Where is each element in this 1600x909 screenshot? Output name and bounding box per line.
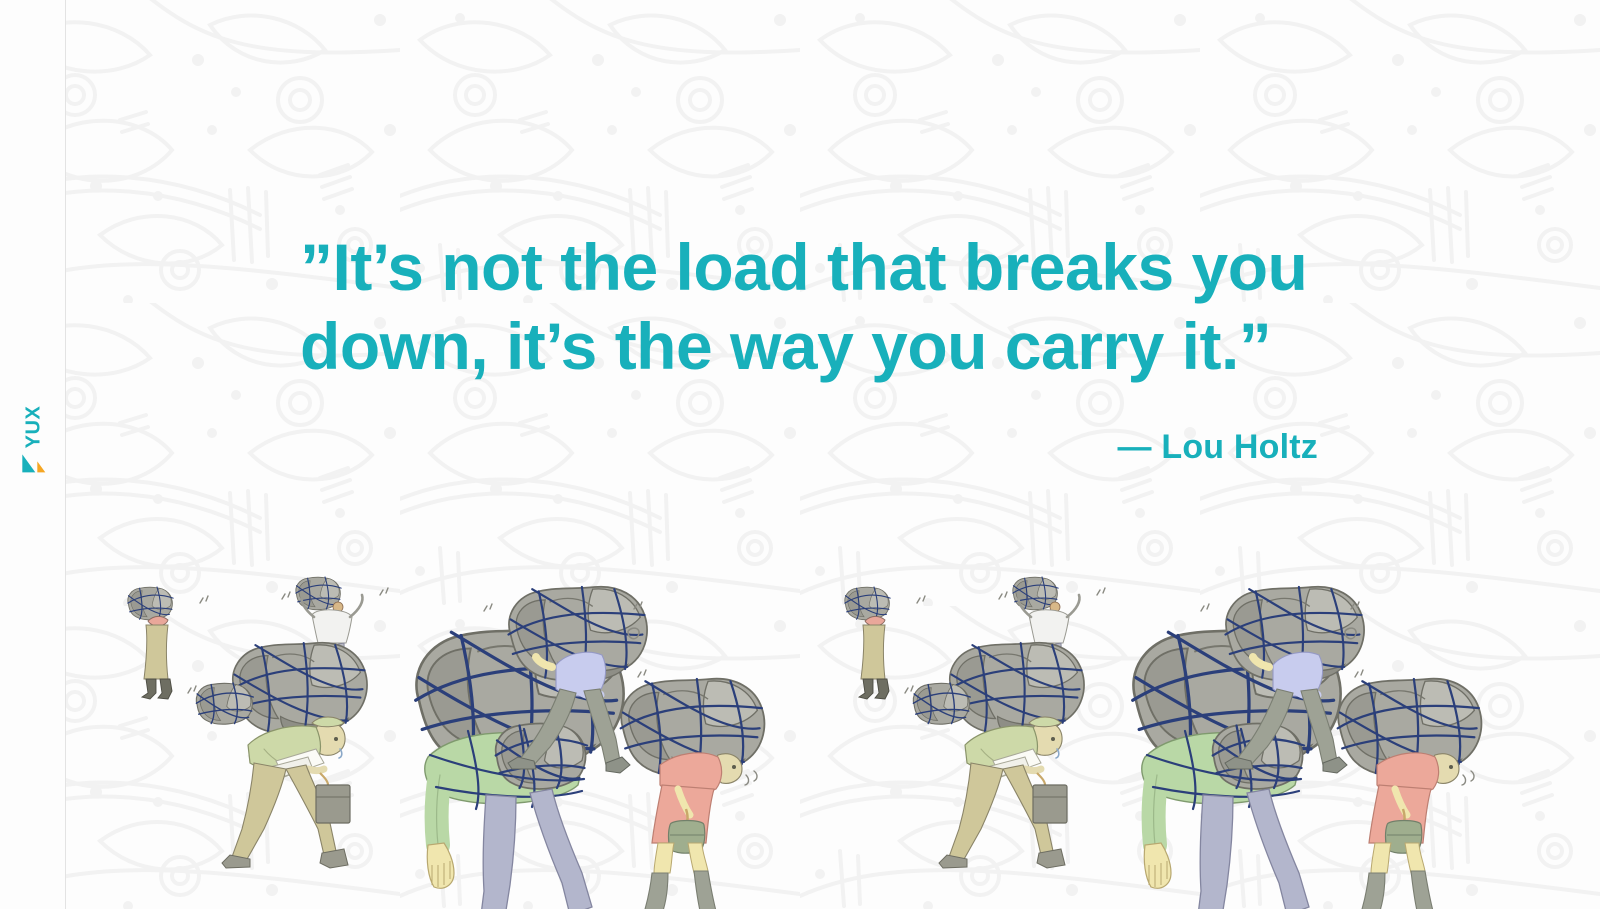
yux-triangle-logo-icon [20, 452, 46, 474]
quote-line-1: ”It’s not the load that breaks you [300, 228, 1330, 307]
brand-wordmark: YUX [23, 406, 43, 449]
quote-slide: YUX ”It’s not the load that breaks you d… [0, 0, 1600, 909]
left-rail: YUX [0, 0, 66, 909]
quote-attribution: — Lou Holtz [1118, 428, 1319, 467]
brand-logo[interactable]: YUX [0, 380, 66, 500]
quote-block: ”It’s not the load that breaks you down,… [300, 228, 1330, 467]
quote-text: ”It’s not the load that breaks you down,… [300, 228, 1330, 386]
illustration-people-carrying-boulders [66, 559, 1600, 909]
illustration-repeat-left [128, 577, 765, 909]
illustration-repeat-right [845, 577, 1482, 909]
quote-attribution-row: — Lou Holtz [300, 428, 1330, 467]
rail-divider [65, 0, 66, 909]
quote-line-2: down, it’s the way you carry it.” [300, 307, 1330, 386]
